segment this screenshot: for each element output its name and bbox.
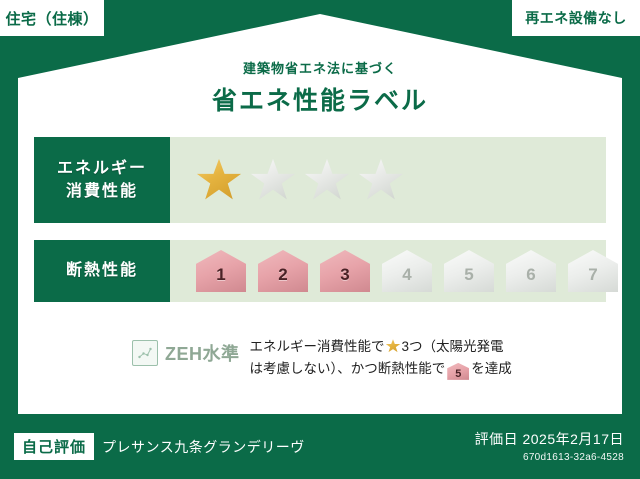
insulation-grade-badge-4: 4 — [382, 250, 432, 292]
tag-renewable-energy-label: 再エネ設備なし — [525, 8, 627, 28]
footer-left-group: 自己評価 プレサンス九条グランデリーヴ — [14, 433, 305, 460]
footer-right-group: 評価日 2025年2月17日 670d1613-32a6-4528 — [475, 429, 624, 463]
row-insulation-label: 断熱性能 — [34, 240, 170, 302]
insulation-grade-badge-7: 7 — [568, 250, 618, 292]
row-energy-label-line1: エネルギー — [57, 157, 147, 180]
insulation-grade-badge-5: 5 — [444, 250, 494, 292]
star-icon — [386, 339, 401, 353]
insulation-grade-badge-1: 1 — [196, 250, 246, 292]
label-title-block: 建築物省エネ法に基づく 省エネ性能ラベル — [0, 58, 640, 117]
inline-grade-badge: 5 — [447, 363, 469, 380]
tag-building-type-label: 住宅（住棟） — [5, 8, 98, 29]
zeh-standard-mark: ZEH水準 — [34, 334, 240, 366]
row-energy-performance: エネルギー 消費性能 — [34, 137, 606, 223]
chart-dots-icon — [132, 340, 158, 366]
energy-star-rating — [170, 137, 606, 223]
zeh-standard-label: ZEH水準 — [165, 340, 240, 366]
insulation-grade-badge-6: 6 — [506, 250, 556, 292]
label-footer: 自己評価 プレサンス九条グランデリーヴ 評価日 2025年2月17日 670d1… — [0, 419, 640, 479]
star-empty-icon — [250, 158, 296, 202]
row-energy-label: エネルギー 消費性能 — [34, 137, 170, 223]
insulation-grade-badge-3: 3 — [320, 250, 370, 292]
row-energy-label-line2: 消費性能 — [66, 180, 138, 203]
note-text-part4: を達成 — [471, 361, 512, 376]
insulation-grade-badge-2: 2 — [258, 250, 308, 292]
star-empty-icon — [358, 158, 404, 202]
note-text-part1: エネルギー消費性能で — [250, 339, 385, 354]
row-insulation-performance: 断熱性能 1234567 — [34, 240, 606, 302]
row-insulation-label-line1: 断熱性能 — [66, 259, 138, 282]
insulation-grade-scale: 1234567 — [170, 240, 622, 302]
tag-building-type: 住宅（住棟） — [0, 0, 104, 36]
tag-renewable-energy: 再エネ設備なし — [512, 0, 640, 36]
evaluation-date: 評価日 2025年2月17日 — [475, 429, 624, 449]
note-text-part2: 3つ（太陽光発電 — [402, 339, 504, 354]
title-main: 省エネ性能ラベル — [0, 81, 640, 117]
energy-label-root: 住宅（住棟） 再エネ設備なし 建築物省エネ法に基づく 省エネ性能ラベル エネルギ… — [0, 0, 640, 479]
zeh-note-text: エネルギー消費性能で3つ（太陽光発電 は考慮しない）、かつ断熱性能で5を達成 — [250, 334, 615, 380]
zeh-note-block: ZEH水準 エネルギー消費性能で3つ（太陽光発電 は考慮しない）、かつ断熱性能で… — [34, 334, 614, 380]
building-name: プレサンス九条グランデリーヴ — [102, 437, 305, 457]
star-empty-icon — [304, 158, 350, 202]
self-evaluation-badge: 自己評価 — [14, 433, 94, 460]
note-text-part3: は考慮しない）、かつ断熱性能で — [250, 361, 446, 376]
star-filled-icon — [196, 158, 242, 202]
title-subtitle: 建築物省エネ法に基づく — [0, 58, 640, 77]
evaluation-id: 670d1613-32a6-4528 — [475, 452, 624, 463]
